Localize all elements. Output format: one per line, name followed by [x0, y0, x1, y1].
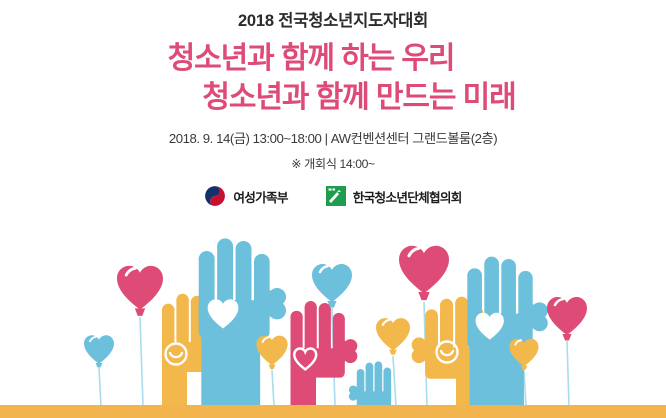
hand-pink-heart: [291, 301, 358, 418]
logo-mogef: 여성가족부: [204, 185, 287, 207]
balloon-blue-right-top: [312, 264, 352, 308]
balloon-pink-tall-left: [117, 266, 163, 316]
poster-text-block: 2018 전국청소년지도자대회 청소년과 함께 하는 우리 청소년과 함께 만드…: [0, 0, 666, 207]
taegeuk-icon: [204, 185, 226, 207]
logo-ncyok-label: 한국청소년단체협의회: [353, 187, 462, 206]
event-kicker: 2018 전국청소년지도자대회: [0, 12, 666, 32]
hand-yellow-large-smiley: [412, 297, 484, 418]
event-datetime-venue: 2018. 9. 14(금) 13:00~18:00 | AW컨벤션센터 그랜드…: [0, 131, 666, 148]
balloon-yellow-mid: [256, 336, 287, 370]
balloon-strings: [99, 302, 569, 406]
balloon-yellow-small-r: [509, 339, 538, 370]
page-title: 청소년과 함께 하는 우리 청소년과 함께 만드는 미래: [0, 39, 666, 118]
hand-yellow-smiley: [162, 294, 230, 418]
balloon-blue-small-left: [84, 335, 114, 367]
poster-canvas: 2018 전국청소년지도자대회 청소년과 함께 하는 우리 청소년과 함께 만드…: [0, 0, 666, 418]
hand-blue-heart: [199, 238, 286, 418]
ncyok-green-icon: [326, 186, 346, 206]
hand-blue-tall-heart: [467, 257, 547, 418]
ground-bar: [0, 405, 666, 418]
balloon-yellow-left-b: [376, 318, 410, 355]
organizer-logos: 여성가족부 한국청소년단체협의회: [0, 185, 666, 207]
logo-ncyok: 한국청소년단체협의회: [326, 186, 462, 206]
headline-line-2: 청소년과 함께 만드는 미래: [26, 78, 666, 118]
hand-blue-small-plain: [349, 361, 391, 418]
balloon-pink-top: [399, 246, 449, 300]
opening-ceremony-note: ※ 개회식 14:00~: [0, 154, 666, 172]
headline-line-1: 청소년과 함께 하는 우리: [0, 39, 644, 79]
balloon-pink-right: [547, 297, 587, 341]
logo-mogef-label: 여성가족부: [233, 187, 287, 206]
